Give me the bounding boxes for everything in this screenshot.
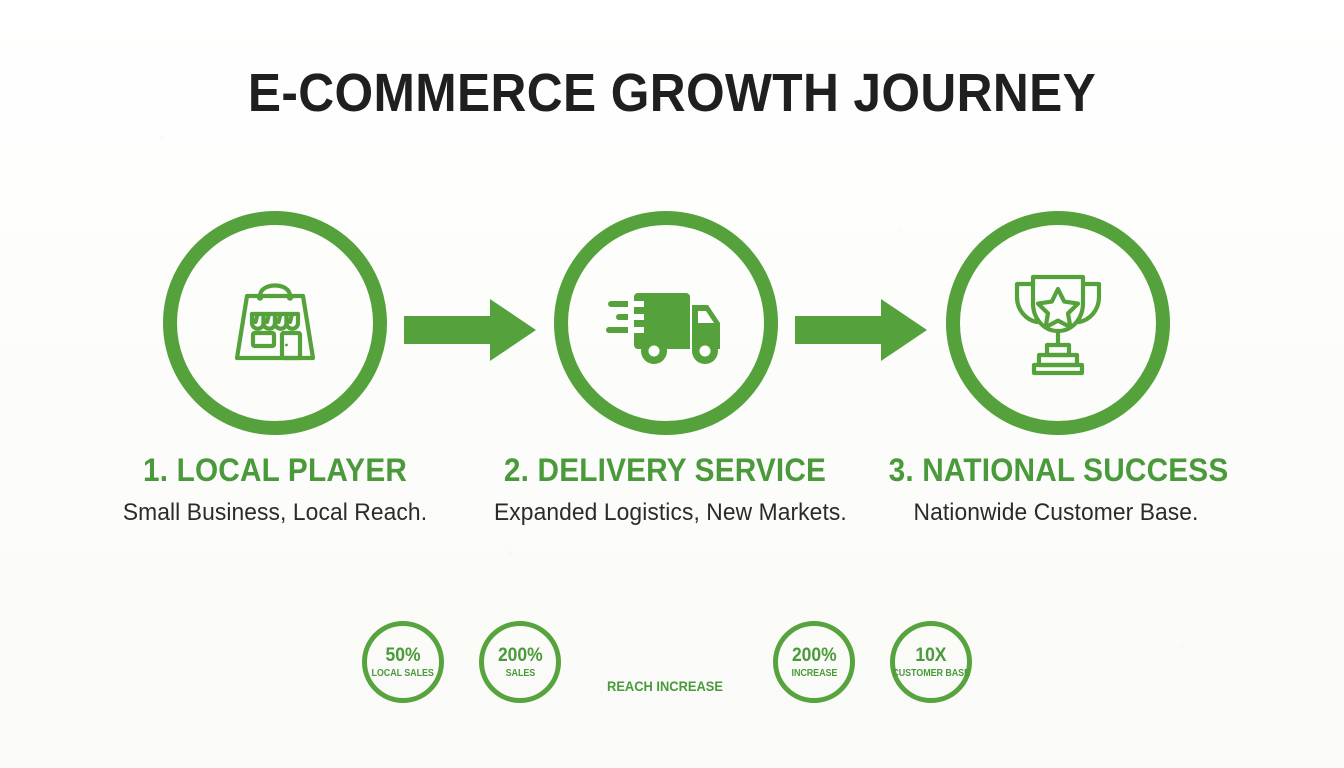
metrics-row: 50% LOCAL SALES 200% SALES REACH INCREAS… [0, 618, 1344, 710]
metric-label: SALES [505, 669, 535, 679]
infographic-canvas: E-COMMERCE GROWTH JOURNEY [0, 0, 1344, 768]
metric-badge-local-sales: 50% LOCAL SALES [362, 621, 444, 703]
metric-badge-customer-base: 10X CUSTOMER BASE [890, 621, 972, 703]
metric-value: 200% [792, 646, 837, 665]
trophy-star-icon [1003, 265, 1113, 382]
step-1-title: 1. LOCAL PLAYER [108, 452, 443, 489]
arrow-right-icon [795, 299, 927, 361]
journey-labels-row: 1. LOCAL PLAYER Small Business, Local Re… [0, 452, 1344, 552]
metric-label: CUSTOMER BASE [892, 669, 970, 679]
step-2-description: Expanded Logistics, New Markets. [494, 499, 836, 527]
step-3-description: Nationwide Customer Base. [885, 499, 1227, 527]
step-1-circle[interactable] [163, 211, 387, 435]
storefront-bag-icon [220, 266, 330, 381]
journey-steps-row [0, 205, 1344, 435]
metric-badge-increase: 200% INCREASE [773, 621, 855, 703]
step-3-label-block: 3. NATIONAL SUCCESS Nationwide Customer … [876, 452, 1236, 527]
step-2-title: 2. DELIVERY SERVICE [498, 452, 833, 489]
metric-label: LOCAL SALES [372, 669, 434, 679]
page-title: E-COMMERCE GROWTH JOURNEY [54, 62, 1290, 124]
delivery-truck-icon [606, 271, 726, 376]
metric-value: 50% [386, 646, 421, 665]
step-3-circle[interactable] [946, 211, 1170, 435]
metric-label: INCREASE [791, 669, 837, 679]
step-1-label-block: 1. LOCAL PLAYER Small Business, Local Re… [95, 452, 455, 527]
step-2-label-block: 2. DELIVERY SERVICE Expanded Logistics, … [485, 452, 845, 527]
arrow-right-icon [404, 299, 536, 361]
reach-increase-label: REACH INCREASE [601, 678, 730, 694]
step-2-circle[interactable] [554, 211, 778, 435]
metric-value: 10X [915, 646, 946, 665]
metric-badge-sales: 200% SALES [479, 621, 561, 703]
step-3-title: 3. NATIONAL SUCCESS [889, 452, 1224, 489]
metric-value: 200% [498, 646, 543, 665]
step-1-description: Small Business, Local Reach. [104, 499, 446, 527]
